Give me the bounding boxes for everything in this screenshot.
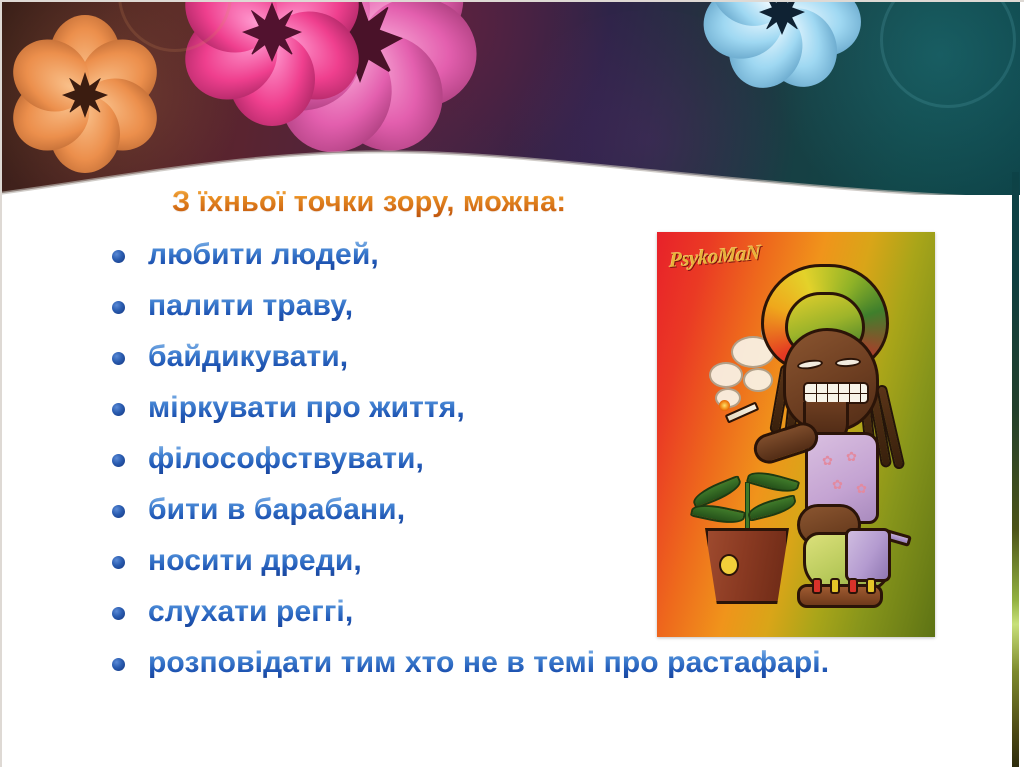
list-item-label: любити людей, (148, 236, 379, 274)
cannabis-leaf-icon (690, 501, 746, 528)
list-item-label: носити дреди, (148, 542, 362, 580)
list-item-label: філософствувати, (148, 440, 424, 478)
bullet-dot-icon (112, 403, 125, 416)
bullet-dot-icon (112, 454, 125, 467)
list-item-label: бити в барабани, (148, 491, 405, 529)
page-title: З їхньої точки зору, можна: (172, 186, 566, 219)
watering-can (845, 528, 891, 582)
bullet-dot-icon (112, 556, 125, 569)
bullet-dot-icon (112, 301, 125, 314)
sandal-strap (812, 578, 822, 594)
cannabis-leaf-icon (746, 494, 798, 522)
plant-stem (745, 482, 750, 536)
bullet-dot-icon (112, 250, 125, 263)
sandal-strap (830, 578, 840, 594)
list-item-label: палити траву, (148, 287, 353, 325)
list-item-label: байдикувати, (148, 338, 348, 376)
smoke-icon (709, 362, 743, 388)
leaf-print-icon: ✿ (832, 477, 843, 493)
smoke-icon (743, 368, 773, 392)
sandal-strap (866, 578, 876, 594)
bullet-dot-icon (112, 658, 125, 671)
leaf-print-icon: ✿ (846, 449, 857, 465)
bullet-dot-icon (112, 352, 125, 365)
bullet-dot-icon (112, 505, 125, 518)
presentation-slide: З їхньої точки зору, можна: любити людей… (0, 0, 1024, 767)
list-item-label: розповідати тим хто не в темі про растаф… (148, 644, 829, 682)
list-item: розповідати тим хто не в темі про растаф… (112, 644, 972, 695)
teeth-grin-icon (803, 382, 869, 404)
ember-icon (719, 400, 730, 411)
leaf-print-icon: ✿ (856, 481, 867, 497)
right-edge-white-margin (1020, 0, 1024, 767)
leaf-print-icon: ✿ (822, 453, 833, 469)
right-edge-gradient-strip (1012, 172, 1019, 767)
list-item-label: міркувати про життя, (148, 389, 465, 427)
psykoman-logo: PsykoMaN (669, 240, 761, 273)
bullet-dot-icon (112, 607, 125, 620)
sandal-icon (797, 584, 883, 608)
smiley-face-icon (719, 554, 739, 576)
list-item-label: слухати реггі, (148, 593, 353, 631)
cannabis-leaf-icon (690, 475, 744, 509)
sandal-strap (848, 578, 858, 594)
flower-pot (705, 528, 789, 604)
cannabis-leaf-icon (746, 467, 800, 497)
rasta-cartoon-image: PsykoMaN ✿ ✿ ✿ (657, 232, 935, 637)
